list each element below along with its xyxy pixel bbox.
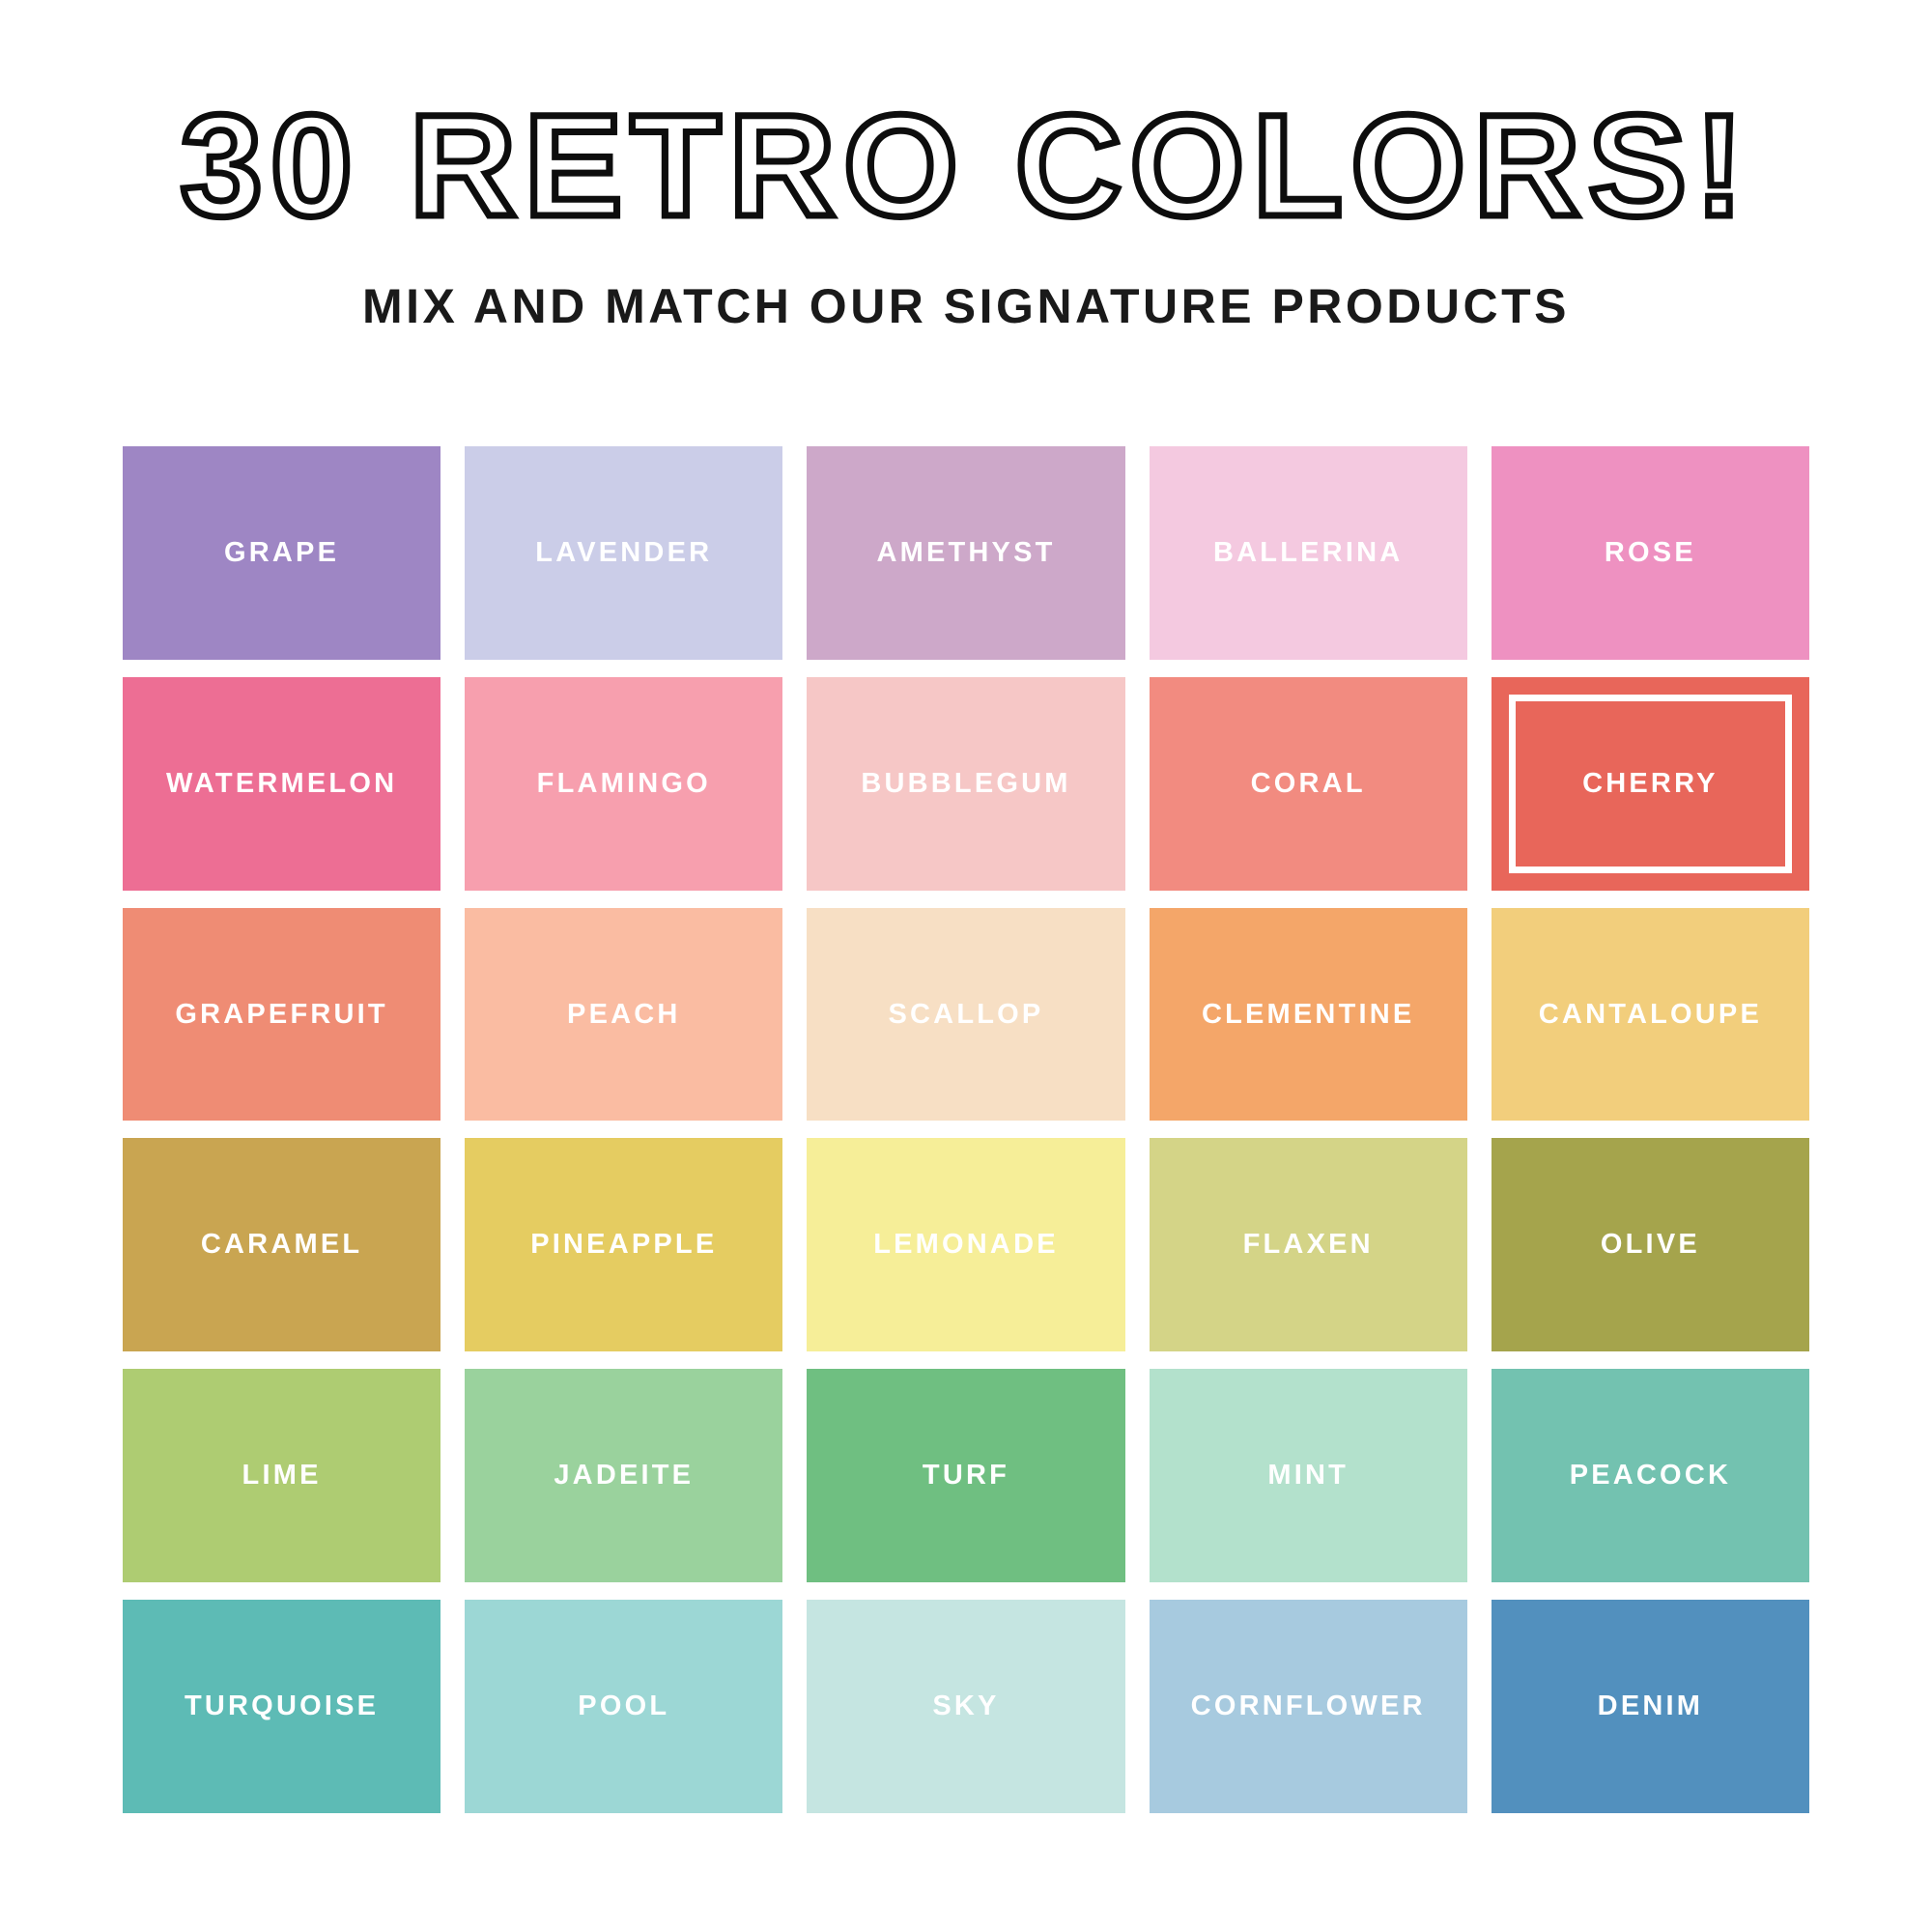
color-swatch-olive[interactable]: OLIVE (1492, 1138, 1809, 1351)
color-swatch-label: LAVENDER (535, 539, 712, 567)
color-swatch-label: JADEITE (554, 1462, 694, 1490)
color-swatch-label: PINEAPPLE (530, 1231, 717, 1259)
color-swatch-flamingo[interactable]: FLAMINGO (465, 677, 782, 891)
color-swatch-label: BALLERINA (1213, 539, 1403, 567)
color-swatch-label: GRAPE (224, 539, 339, 567)
color-swatch-cantaloupe[interactable]: CANTALOUPE (1492, 908, 1809, 1122)
color-swatch-label: CHERRY (1582, 770, 1719, 798)
color-swatch-watermelon[interactable]: WATERMELON (123, 677, 440, 891)
color-swatch-turquoise[interactable]: TURQUOISE (123, 1600, 440, 1813)
color-swatch-label: FLAXEN (1243, 1231, 1374, 1259)
color-swatch-label: OLIVE (1601, 1231, 1700, 1259)
color-swatch-amethyst[interactable]: AMETHYST (807, 446, 1124, 660)
color-swatch-rose[interactable]: ROSE (1492, 446, 1809, 660)
poster-header: 30 RETRO COLORS! MIX AND MATCH OUR SIGNA… (0, 0, 1932, 330)
color-swatch-label: CORAL (1251, 770, 1366, 798)
color-swatch-label: CLEMENTINE (1202, 1001, 1415, 1029)
color-swatch-peach[interactable]: PEACH (465, 908, 782, 1122)
page-title: 30 RETRO COLORS! (0, 93, 1932, 238)
color-swatch-label: BUBBLEGUM (861, 770, 1070, 798)
color-swatch-clementine[interactable]: CLEMENTINE (1150, 908, 1467, 1122)
color-swatch-grapefruit[interactable]: GRAPEFRUIT (123, 908, 440, 1122)
color-swatch-label: LEMONADE (873, 1231, 1059, 1259)
color-swatch-label: CANTALOUPE (1539, 1001, 1762, 1029)
color-swatch-label: SCALLOP (889, 1001, 1044, 1029)
color-swatch-cornflower[interactable]: CORNFLOWER (1150, 1600, 1467, 1813)
color-swatch-label: POOL (578, 1692, 669, 1720)
color-palette-poster: 30 RETRO COLORS! MIX AND MATCH OUR SIGNA… (0, 0, 1932, 1932)
color-swatch-pineapple[interactable]: PINEAPPLE (465, 1138, 782, 1351)
color-swatch-pool[interactable]: POOL (465, 1600, 782, 1813)
color-swatch-grape[interactable]: GRAPE (123, 446, 440, 660)
color-swatch-label: SKY (932, 1692, 999, 1720)
color-swatch-lavender[interactable]: LAVENDER (465, 446, 782, 660)
color-swatch-coral[interactable]: CORAL (1150, 677, 1467, 891)
color-swatch-label: TURF (923, 1462, 1009, 1490)
color-swatch-cherry[interactable]: CHERRY (1492, 677, 1809, 891)
color-swatch-label: WATERMELON (166, 770, 397, 798)
page-subtitle: MIX AND MATCH OUR SIGNATURE PRODUCTS (0, 282, 1932, 330)
color-swatch-scallop[interactable]: SCALLOP (807, 908, 1124, 1122)
color-swatch-label: GRAPEFRUIT (175, 1001, 388, 1029)
color-swatch-caramel[interactable]: CARAMEL (123, 1138, 440, 1351)
color-swatch-label: DENIM (1598, 1692, 1703, 1720)
color-swatch-peacock[interactable]: PEACOCK (1492, 1369, 1809, 1582)
color-swatch-lime[interactable]: LIME (123, 1369, 440, 1582)
color-swatch-label: CARAMEL (201, 1231, 362, 1259)
color-swatch-label: PEACH (567, 1001, 681, 1029)
color-swatch-mint[interactable]: MINT (1150, 1369, 1467, 1582)
color-swatch-label: ROSE (1605, 539, 1696, 567)
color-swatch-label: LIME (242, 1462, 322, 1490)
color-swatch-label: MINT (1267, 1462, 1349, 1490)
color-swatch-sky[interactable]: SKY (807, 1600, 1124, 1813)
color-swatch-turf[interactable]: TURF (807, 1369, 1124, 1582)
color-swatch-bubblegum[interactable]: BUBBLEGUM (807, 677, 1124, 891)
color-swatch-label: CORNFLOWER (1191, 1692, 1426, 1720)
color-swatch-flaxen[interactable]: FLAXEN (1150, 1138, 1467, 1351)
color-swatch-jadeite[interactable]: JADEITE (465, 1369, 782, 1582)
color-swatch-label: TURQUOISE (185, 1692, 379, 1720)
color-swatch-denim[interactable]: DENIM (1492, 1600, 1809, 1813)
color-swatch-ballerina[interactable]: BALLERINA (1150, 446, 1467, 660)
color-swatch-lemonade[interactable]: LEMONADE (807, 1138, 1124, 1351)
color-swatch-label: FLAMINGO (537, 770, 711, 798)
color-swatch-label: AMETHYST (876, 539, 1055, 567)
color-swatch-label: PEACOCK (1570, 1462, 1731, 1490)
color-swatch-grid: GRAPELAVENDERAMETHYSTBALLERINAROSEWATERM… (123, 446, 1809, 1813)
